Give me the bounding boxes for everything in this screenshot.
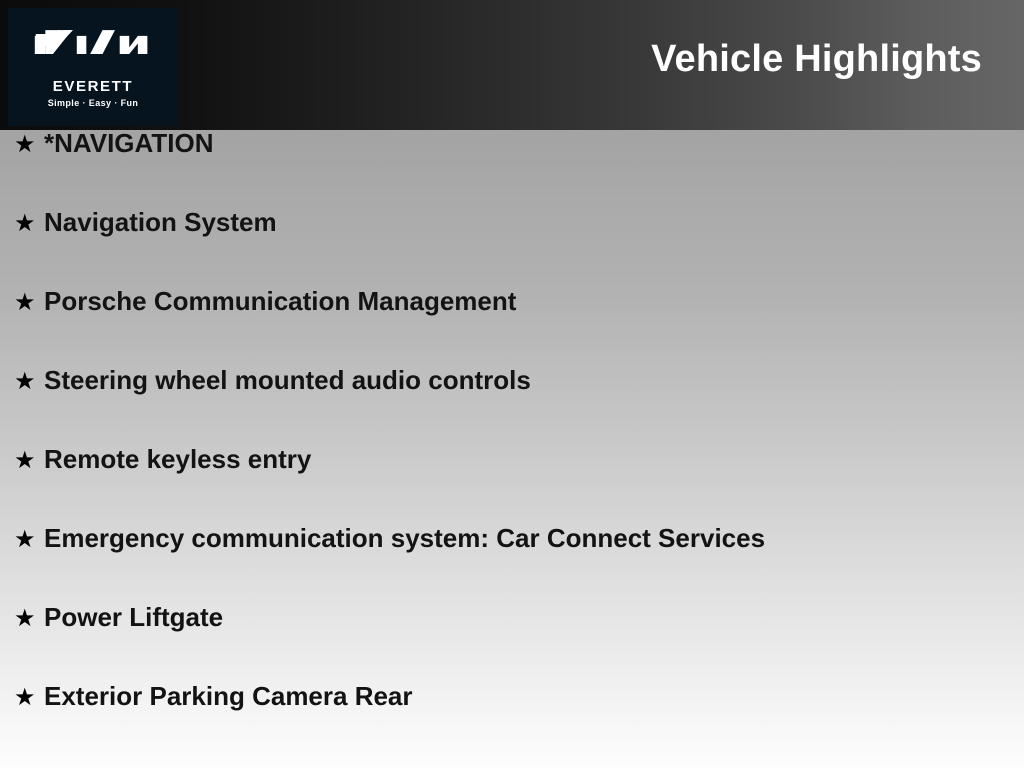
star-bullet-icon: ★: [14, 686, 44, 710]
list-item: ★ Remote keyless entry: [0, 446, 1024, 525]
star-bullet-icon: ★: [14, 370, 44, 394]
list-item: ★ Steering wheel mounted audio controls: [0, 367, 1024, 446]
star-bullet-icon: ★: [14, 133, 44, 157]
list-item: ★ Emergency communication system: Car Co…: [0, 525, 1024, 604]
star-bullet-icon: ★: [14, 449, 44, 473]
star-bullet-icon: ★: [14, 212, 44, 236]
list-item-label: Power Liftgate: [44, 604, 223, 630]
list-item-label: Exterior Parking Camera Rear: [44, 683, 413, 709]
dealer-name: EVERETT: [53, 79, 133, 94]
list-item: ★ Porsche Communication Management: [0, 288, 1024, 367]
vehicle-highlights-list: ★ *NAVIGATION ★ Navigation System ★ Pors…: [0, 130, 1024, 762]
list-item-label: Steering wheel mounted audio controls: [44, 367, 531, 393]
list-item-label: Remote keyless entry: [44, 446, 311, 472]
dealer-tagline: Simple · Easy · Fun: [48, 99, 139, 108]
list-item-label: Emergency communication system: Car Conn…: [44, 525, 765, 551]
star-bullet-icon: ★: [14, 528, 44, 552]
page-title: Vehicle Highlights: [651, 40, 982, 78]
list-item: ★ Exterior Parking Camera Rear: [0, 683, 1024, 762]
list-item-label: Navigation System: [44, 209, 277, 235]
vehicle-highlights-slide: EVERETT Simple · Easy · Fun Vehicle High…: [0, 0, 1024, 768]
star-bullet-icon: ★: [14, 607, 44, 631]
list-item: ★ Power Liftgate: [0, 604, 1024, 683]
list-item: ★ Navigation System: [0, 209, 1024, 288]
list-item-label: *NAVIGATION: [44, 130, 213, 156]
kia-logo-icon: [31, 29, 155, 59]
dealer-logo-plate[interactable]: EVERETT Simple · Easy · Fun: [8, 8, 178, 126]
list-item: ★ *NAVIGATION: [0, 130, 1024, 209]
star-bullet-icon: ★: [14, 291, 44, 315]
header-bar: EVERETT Simple · Easy · Fun Vehicle High…: [0, 0, 1024, 130]
list-item-label: Porsche Communication Management: [44, 288, 516, 314]
